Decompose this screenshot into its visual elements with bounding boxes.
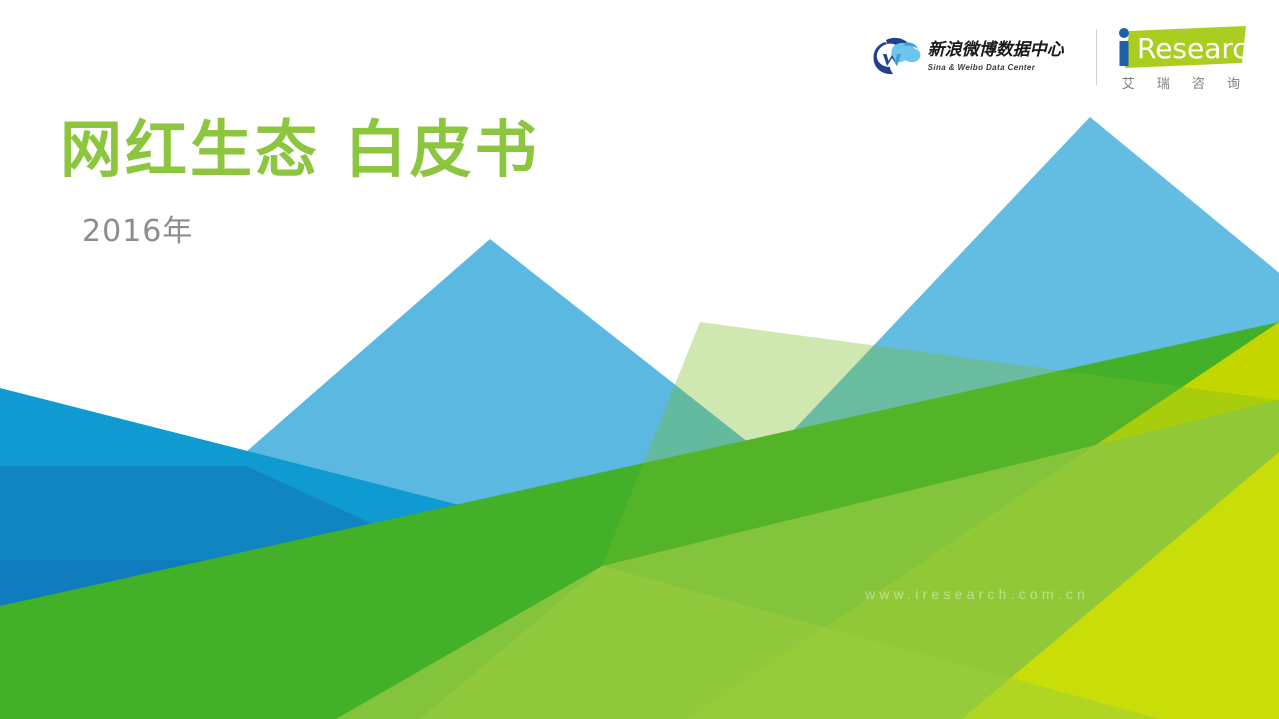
iresearch-logo-icon: Research	[1115, 23, 1247, 69]
shape-green-highlight	[602, 322, 1279, 566]
page-title: 网红生态 白皮书	[60, 115, 540, 184]
sina-weibo-cloud-icon	[871, 36, 923, 78]
sina-cn-name: 新浪微博数据中心	[928, 41, 1064, 61]
shape-lime-right	[688, 322, 1279, 719]
sina-wordmark: 新浪微博数据中心 Sina & Weibo Data Center	[928, 41, 1064, 72]
background-artwork	[0, 0, 1279, 719]
artwork-backdrop	[0, 0, 1279, 719]
sina-en-name: Sina & Weibo Data Center	[928, 63, 1064, 73]
svg-text:Research: Research	[1137, 32, 1247, 65]
iresearch-cn-name: 艾 瑞 咨 询	[1113, 73, 1249, 92]
shape-green-base	[0, 322, 1279, 719]
shape-deep-blue-wedge	[0, 466, 800, 719]
shape-deep-blue-corner	[0, 560, 430, 719]
title-block: 网红生态 白皮书 2016年	[60, 115, 540, 250]
logo-divider	[1096, 29, 1097, 85]
logo-bar: 新浪微博数据中心 Sina & Weibo Data Center Resear…	[871, 22, 1249, 92]
shape-mid-blue-band	[0, 388, 1279, 719]
slide-canvas: www.iresearch.com.cn 网红生态 白皮书 2016年 新浪微博…	[0, 0, 1279, 719]
watermark-url: www.iresearch.com.cn	[865, 586, 1089, 602]
shape-right-blue-peak	[520, 117, 1279, 719]
shape-left-blue-peak	[0, 239, 1100, 719]
shape-mid-green-fan	[336, 400, 1279, 719]
iresearch-logo[interactable]: Research 艾 瑞 咨 询	[1113, 23, 1249, 92]
sina-weibo-logo[interactable]: 新浪微博数据中心 Sina & Weibo Data Center	[871, 36, 1080, 78]
page-subtitle: 2016年	[82, 206, 540, 250]
